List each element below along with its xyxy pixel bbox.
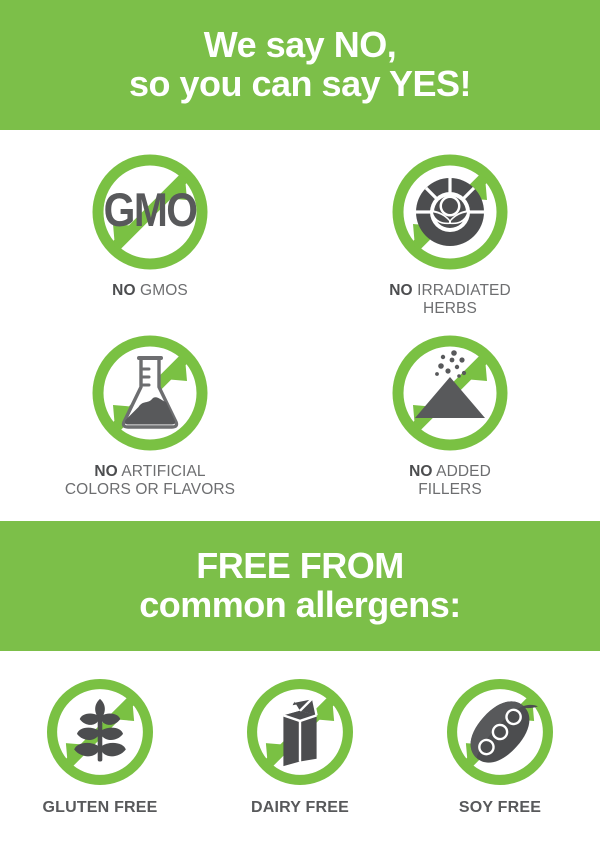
caption-line-1: IRRADIATED [417,282,511,299]
banner-bottom-line-1: FREE FROM [196,547,404,586]
caption-line-2: COLORS OR FLAVORS [65,481,235,498]
caption-prefix: NO [409,463,432,480]
no-gmo-icon: GMO [86,148,214,276]
no-items-grid: GMO NO GMOS [0,130,600,503]
banner-top: We say NO, so you can say YES! [0,0,600,130]
caption-line-1: ARTIFICIAL [121,463,205,480]
gluten-free-wheat-icon [41,673,159,791]
no-item-gmos: GMO NO GMOS [0,148,300,319]
dairy-free-carton-icon [241,673,359,791]
banner-bottom: FREE FROM common allergens: [0,521,600,651]
caption-line-1: GMOS [140,282,188,299]
caption-prefix: NO [389,282,412,299]
no-item-artificial-colors: NO ARTIFICIAL COLORS OR FLAVORS [0,329,300,500]
banner-bottom-line-2: common allergens: [139,586,461,625]
allergen-item-gluten-label: GLUTEN FREE [42,799,157,817]
no-added-fillers-icon [386,329,514,457]
caption-prefix: NO [112,282,135,299]
allergen-item-gluten: GLUTEN FREE [0,673,200,817]
no-item-added-fillers: NO ADDED FILLERS [300,329,600,500]
caption-line-2: HERBS [423,300,477,317]
no-irradiated-herbs-icon [386,148,514,276]
caption-line-2: FILLERS [418,481,482,498]
no-artificial-colors-flask-icon [86,329,214,457]
soy-free-pod-icon [441,673,559,791]
no-item-artificial-colors-caption: NO ARTIFICIAL COLORS OR FLAVORS [65,463,235,500]
allergen-item-soy-label: SOY FREE [459,799,541,817]
banner-top-line-1: We say NO, [204,26,396,65]
allergen-item-dairy: DAIRY FREE [200,673,400,817]
caption-prefix: NO [94,463,117,480]
allergen-item-soy: SOY FREE [400,673,600,817]
svg-text:GMO: GMO [104,184,197,236]
no-item-gmos-caption: NO GMOS [112,282,188,300]
allergen-item-dairy-label: DAIRY FREE [251,799,349,817]
allergen-items-grid: GLUTEN FREE [0,651,600,817]
no-item-irradiated-herbs-caption: NO IRRADIATED HERBS [389,282,511,319]
infographic-page: We say NO, so you can say YES! GMO NO GM… [0,0,600,855]
no-item-added-fillers-caption: NO ADDED FILLERS [409,463,491,500]
banner-top-line-2: so you can say YES! [129,65,471,104]
caption-line-1: ADDED [436,463,491,480]
no-item-irradiated-herbs: NO IRRADIATED HERBS [300,148,600,319]
